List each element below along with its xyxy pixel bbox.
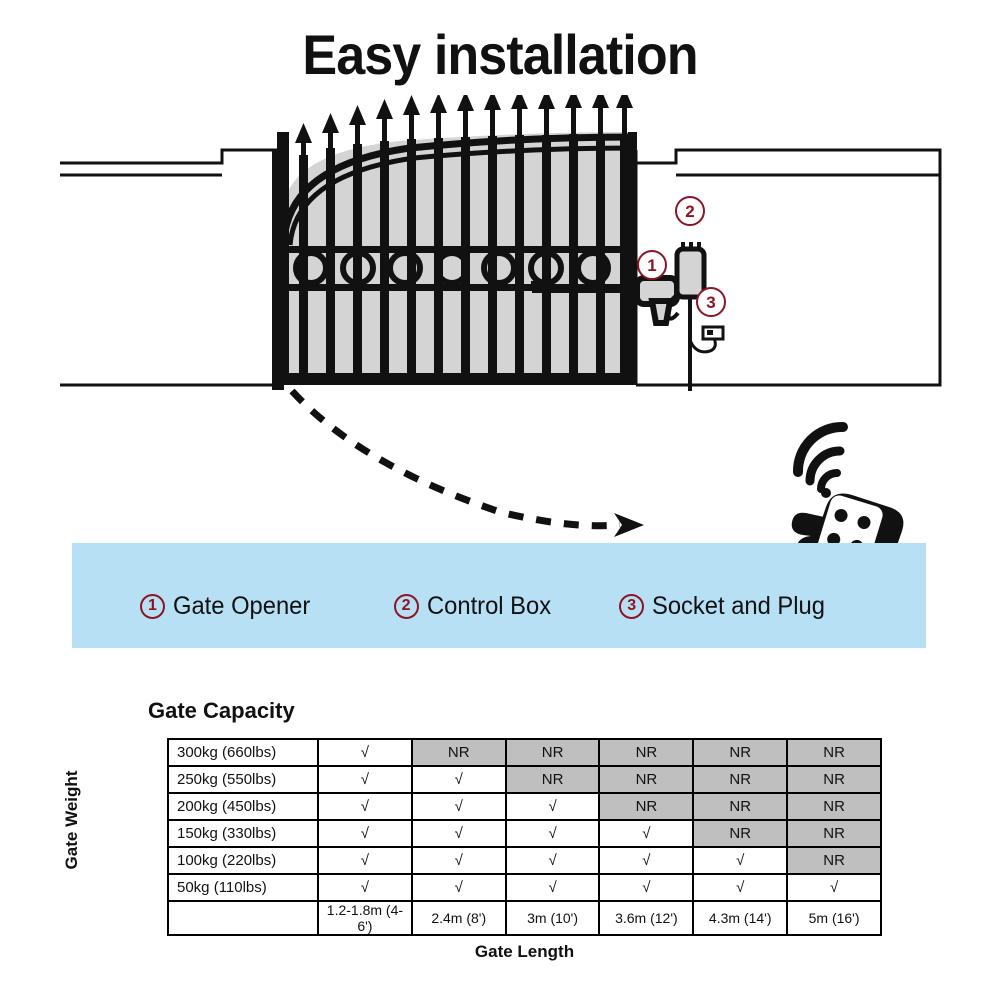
cell-not-recommended: NR [693,739,787,766]
cell-supported: √ [693,847,787,874]
svg-text:2: 2 [685,202,694,221]
cell-not-recommended: NR [506,766,600,793]
row-header-weight: 50kg (110lbs) [168,874,318,901]
cell-supported: √ [787,874,881,901]
cell-not-recommended: NR [412,739,506,766]
row-header-weight: 100kg (220lbs) [168,847,318,874]
callout-1: 1 [638,251,666,279]
cell-not-recommended: NR [787,739,881,766]
row-header-weight: 150kg (330lbs) [168,820,318,847]
socket-and-plug [703,327,723,339]
cell-supported: √ [412,766,506,793]
table-row: 300kg (660lbs)√NRNRNRNRNR [168,739,881,766]
cell-supported: √ [506,847,600,874]
installation-infographic: Easy installation [0,0,1000,1000]
legend-number-icon-2: 2 [394,594,419,619]
table-row: 150kg (330lbs)√√√√NRNR [168,820,881,847]
gate-capacity-heading: Gate Capacity [148,698,295,724]
cell-not-recommended: NR [599,766,693,793]
legend-label-socket-and-plug: Socket and Plug [652,592,825,621]
cell-supported: √ [318,739,412,766]
cell-not-recommended: NR [787,847,881,874]
left-wall [60,150,284,390]
cell-supported: √ [412,820,506,847]
x-axis-label: Gate Length [167,942,882,962]
cell-supported: √ [318,793,412,820]
cell-not-recommended: NR [787,766,881,793]
legend-item-socket-and-plug: 3 Socket and Plug [619,592,834,621]
column-header-length: 3.6m (12') [599,901,693,935]
cell-supported: √ [506,820,600,847]
callout-2: 2 [676,197,704,225]
table-row: 200kg (450lbs)√√√NRNRNR [168,793,881,820]
legend-label-gate-opener: Gate Opener [173,592,310,621]
svg-text:3: 3 [706,293,715,312]
table-corner-cell [168,901,318,935]
svg-text:1: 1 [647,256,656,275]
legend-bar: 1 Gate Opener 2 Control Box 3 Socket and… [72,543,926,648]
column-header-length: 5m (16') [787,901,881,935]
cell-supported: √ [318,874,412,901]
legend-label-control-box: Control Box [427,592,551,621]
cell-supported: √ [412,847,506,874]
cell-supported: √ [318,820,412,847]
cell-not-recommended: NR [693,793,787,820]
gate-capacity-section: Gate Capacity Gate Weight 300kg (660lbs)… [0,690,1000,990]
table-row: 250kg (550lbs)√√NRNRNRNR [168,766,881,793]
cell-not-recommended: NR [599,739,693,766]
cell-supported: √ [599,874,693,901]
legend-items: 1 Gate Opener 2 Control Box 3 Socket and… [72,586,926,626]
gate-swing-arrow [292,391,644,537]
cell-supported: √ [506,874,600,901]
table-row: 100kg (220lbs)√√√√√NR [168,847,881,874]
cell-supported: √ [412,874,506,901]
gate-capacity-table: 300kg (660lbs)√NRNRNRNRNR250kg (550lbs)√… [167,738,882,936]
legend-number-icon-3: 3 [619,594,644,619]
cell-not-recommended: NR [787,820,881,847]
column-header-length: 1.2-1.8m (4-6') [318,901,412,935]
row-header-weight: 250kg (550lbs) [168,766,318,793]
y-axis-label: Gate Weight [62,740,82,900]
page-title: Easy installation [35,22,965,87]
cell-not-recommended: NR [787,793,881,820]
cell-not-recommended: NR [693,820,787,847]
cell-not-recommended: NR [599,793,693,820]
gate-panel [277,95,637,385]
legend-item-control-box: 2 Control Box [394,592,558,621]
cell-supported: √ [506,793,600,820]
column-header-length: 4.3m (14') [693,901,787,935]
cell-not-recommended: NR [693,766,787,793]
control-box [677,242,704,297]
row-header-weight: 300kg (660lbs) [168,739,318,766]
installation-illustration: 1 2 3 [0,95,1000,565]
cell-supported: √ [412,793,506,820]
cell-not-recommended: NR [506,739,600,766]
cell-supported: √ [599,820,693,847]
table-column-header-row: 1.2-1.8m (4-6')2.4m (8')3m (10')3.6m (12… [168,901,881,935]
column-header-length: 2.4m (8') [412,901,506,935]
column-header-length: 3m (10') [506,901,600,935]
table-row: 50kg (110lbs)√√√√√√ [168,874,881,901]
callout-3: 3 [697,288,725,316]
row-header-weight: 200kg (450lbs) [168,793,318,820]
cell-supported: √ [318,847,412,874]
legend-item-gate-opener: 1 Gate Opener [140,592,318,621]
cell-supported: √ [693,874,787,901]
cell-supported: √ [318,766,412,793]
legend-number-icon-1: 1 [140,594,165,619]
cell-supported: √ [599,847,693,874]
